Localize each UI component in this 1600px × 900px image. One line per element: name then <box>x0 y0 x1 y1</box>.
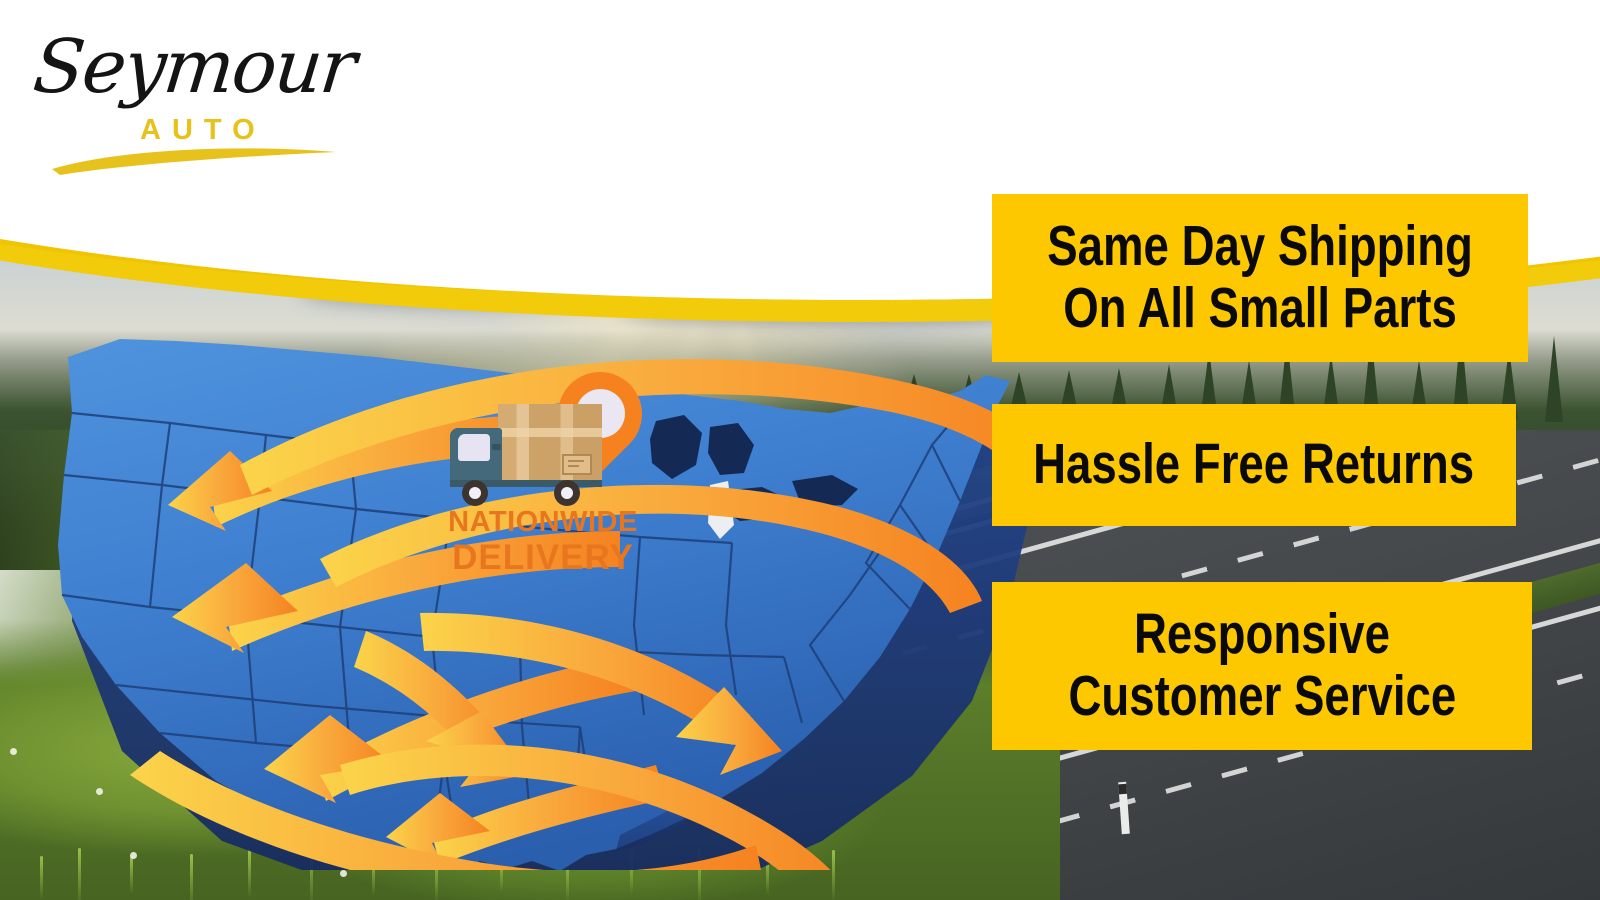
feature-line: Responsive <box>1134 604 1390 666</box>
feature-box-same-day-shipping[interactable]: Same Day Shipping On All Small Parts <box>992 194 1528 362</box>
brand-name-script: Seymour <box>29 24 358 110</box>
feature-line: Customer Service <box>1068 666 1456 728</box>
feature-line: On All Small Parts <box>1063 278 1457 340</box>
feature-line: Hassle Free Returns <box>1034 434 1475 496</box>
delivery-truck-icon <box>450 404 610 504</box>
nationwide-delivery-text: NATIONWIDE DELIVERY <box>428 508 658 575</box>
feature-line: Same Day Shipping <box>1047 216 1473 278</box>
nationwide-delivery-badge: NATIONWIDE DELIVERY <box>440 368 660 578</box>
nationwide-label: NATIONWIDE <box>428 508 658 537</box>
feature-box-responsive-customer-service[interactable]: Responsive Customer Service <box>992 582 1532 750</box>
feature-box-hassle-free-returns[interactable]: Hassle Free Returns <box>992 404 1516 526</box>
promo-banner: NATIONWIDE DELIVERY Seymour AUTO Same Da… <box>0 0 1600 900</box>
brand-logo[interactable]: Seymour AUTO <box>28 18 338 168</box>
delivery-label: DELIVERY <box>428 540 658 575</box>
brand-swoosh-icon <box>50 142 340 176</box>
